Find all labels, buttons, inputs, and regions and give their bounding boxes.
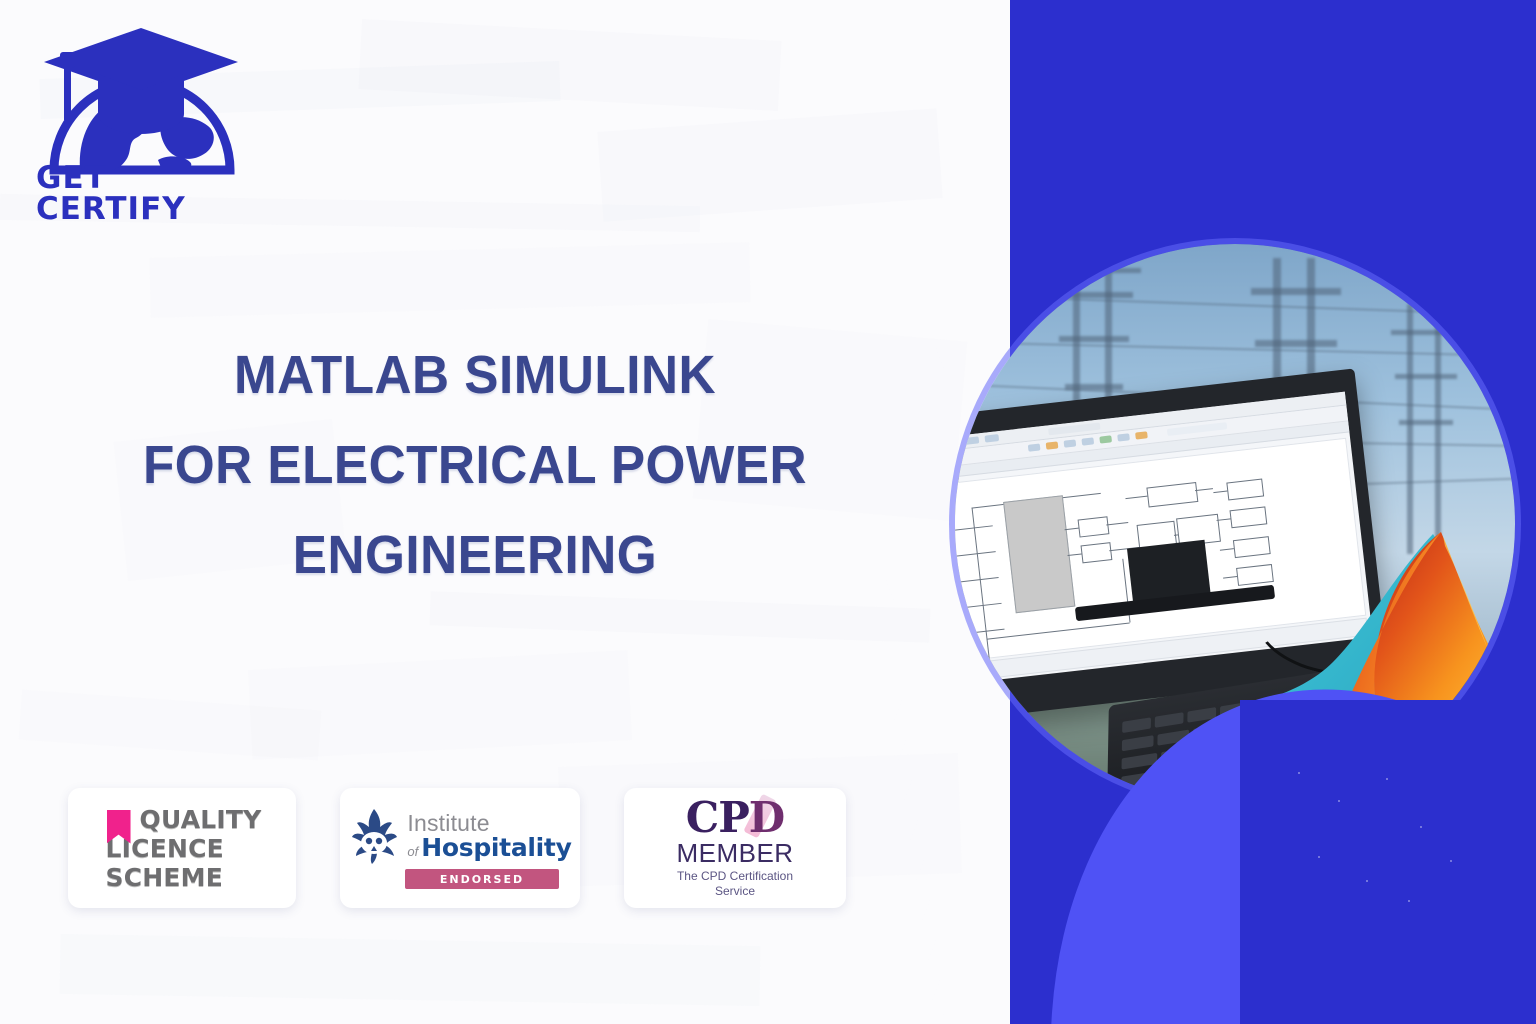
badge-quality-licence-scheme[interactable]: QUALITY LICENCE SCHEME [68,788,296,908]
title-line-3: ENGINEERING [81,510,870,600]
qls-line-1: QUALITY [140,805,262,834]
cpd-sub-line-1: The CPD Certification [677,869,793,883]
title-line-2: FOR ELECTRICAL POWER [81,420,870,510]
ioh-hospitality-word: Hospitality [421,835,571,860]
institute-crest-icon [348,807,400,865]
cpd-sub-line-2: Service [715,884,755,898]
qls-line-3: SCHEME [106,863,262,892]
ioh-institute-word: Institute [407,812,571,835]
brand-logo-text: GET CERTIFY [36,163,236,225]
ioh-endorsed-ribbon: ENDORSED [405,869,559,889]
cpd-acronym-cp: CP [686,793,749,842]
poster-canvas: GET CERTIFY MATLAB SIMULINK FOR ELECTRIC… [0,0,1536,1024]
accreditation-badges: QUALITY LICENCE SCHEME Inst [68,788,846,908]
cpd-member-word: MEMBER [676,839,793,867]
ioh-of-word: of [407,845,418,858]
sparkle-dots [1290,760,1490,920]
page-title: MATLAB SIMULINK FOR ELECTRICAL POWER ENG… [60,330,890,600]
cpd-acronym-d: D [749,793,784,842]
title-line-1: MATLAB SIMULINK [81,330,870,420]
badge-institute-of-hospitality[interactable]: Institute of Hospitality ENDORSED [340,788,580,908]
badge-cpd-member[interactable]: CPD MEMBER The CPD Certification Service [624,788,846,908]
graduation-cap-globe-icon [36,22,246,182]
